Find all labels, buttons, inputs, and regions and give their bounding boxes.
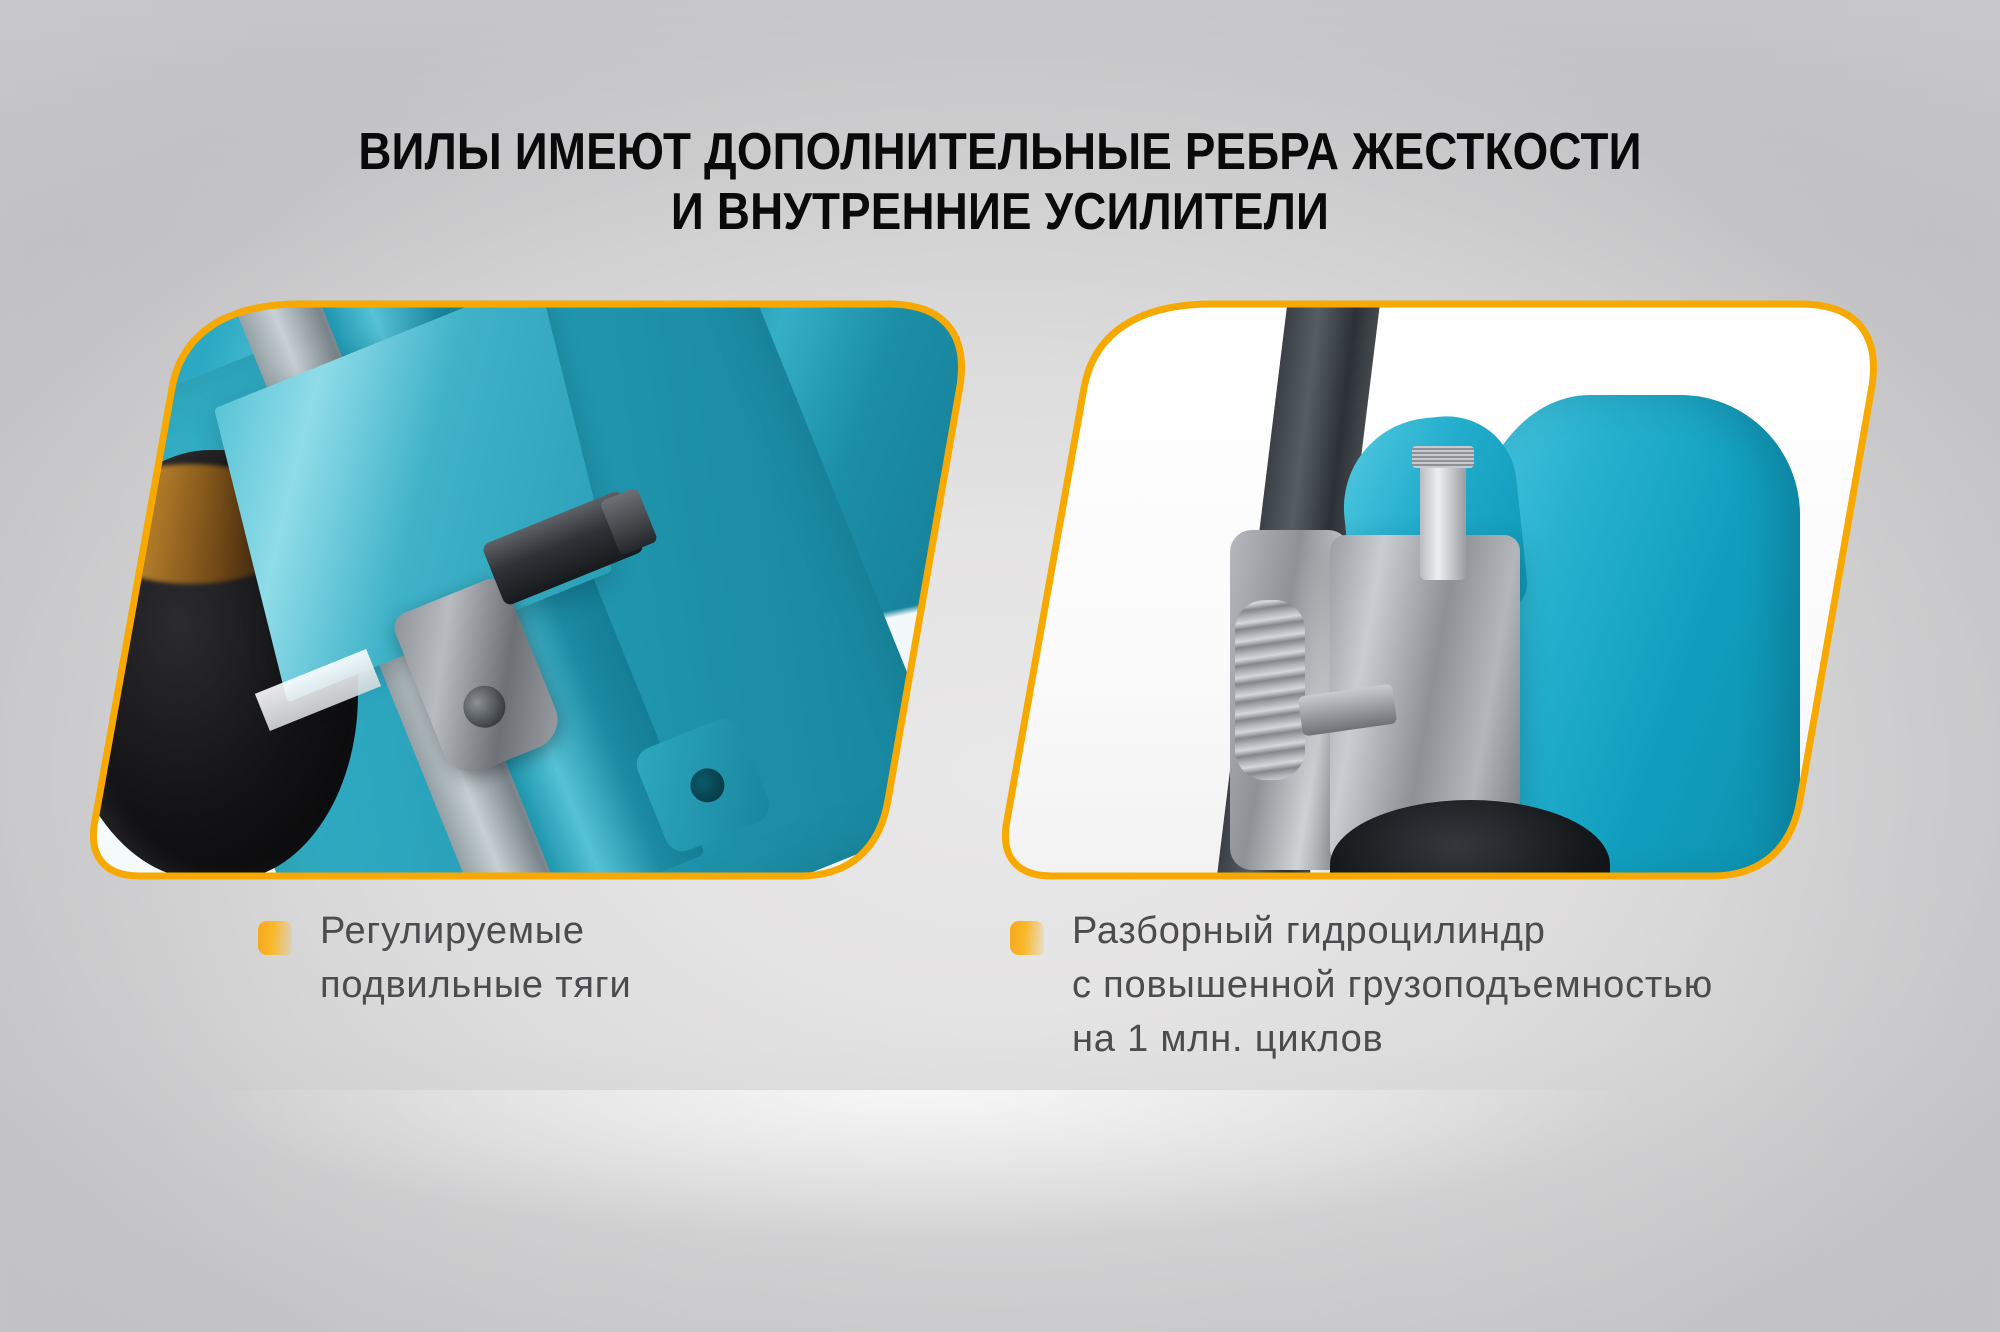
photo-frames-row [0, 300, 2000, 900]
square-bullet-icon [1010, 921, 1044, 955]
caption-left: Регулируемые подвильные тяги [258, 905, 858, 1013]
captions-row: Регулируемые подвильные тяги Разборный г… [0, 905, 2000, 1165]
caption-right: Разборный гидроцилиндр с повышенной груз… [1010, 905, 1910, 1067]
frame-right-outline [1000, 300, 1920, 880]
photo-frame-left [88, 300, 1008, 880]
square-bullet-icon [258, 921, 292, 955]
page-title: ВИЛЫ ИМЕЮТ ДОПОЛНИТЕЛЬНЫЕ РЕБРА ЖЕСТКОСТ… [120, 123, 1880, 243]
photo-frame-right [1000, 300, 1920, 880]
caption-right-text: Разборный гидроцилиндр с повышенной груз… [1072, 905, 1713, 1067]
slide-root: ВИЛЫ ИМЕЮТ ДОПОЛНИТЕЛЬНЫЕ РЕБРА ЖЕСТКОСТ… [0, 0, 2000, 1332]
photo-right-hydraulic-cylinder [1000, 300, 1920, 880]
frame-left-outline [88, 300, 1008, 880]
photo-left-fork-tierod [88, 300, 1008, 880]
caption-left-text: Регулируемые подвильные тяги [320, 905, 632, 1013]
